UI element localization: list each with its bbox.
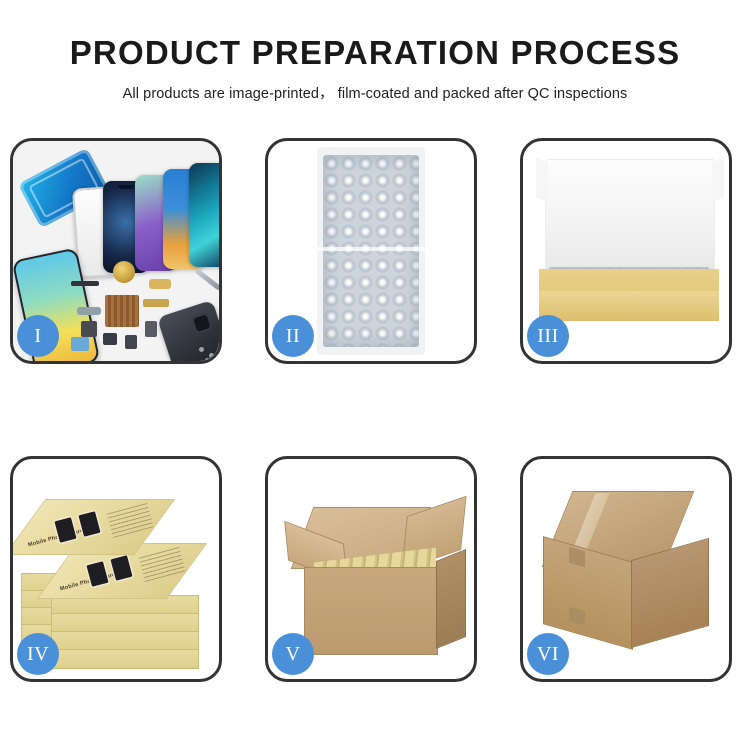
screwdriver-tool-icon <box>195 268 219 290</box>
wireless-charging-coil-icon <box>113 261 135 283</box>
step-badge-1: I <box>17 315 59 357</box>
bubble-texture <box>323 155 419 347</box>
inner-box-front-panel <box>539 291 719 321</box>
vibrator-motor-part <box>103 333 117 345</box>
page-subtitle: All products are image-printed， film-coa… <box>0 82 750 103</box>
inner-box-kraft-base <box>539 269 719 321</box>
camera-module-part <box>81 321 97 337</box>
carton-front-panel <box>304 567 438 655</box>
step-badge-5: V <box>272 633 314 675</box>
button-flex-part <box>145 321 157 337</box>
phone-screen-teal <box>189 163 219 267</box>
sealed-shipping-carton <box>543 491 719 651</box>
process-step-2: II <box>265 138 477 364</box>
page-title: PRODUCT PREPARATION PROCESS <box>0 36 750 69</box>
step-badge-6: VI <box>527 633 569 675</box>
earpiece-speaker-part <box>71 281 99 286</box>
process-step-1: I <box>10 138 222 364</box>
connector-part <box>77 307 101 315</box>
retail-box-layer <box>51 613 199 633</box>
flex-cable-part-a <box>149 279 171 289</box>
process-step-grid: I II III <box>10 138 740 682</box>
copper-shield-chip <box>105 295 139 327</box>
screws-group <box>199 347 219 361</box>
header: PRODUCT PREPARATION PROCESS All products… <box>0 0 750 103</box>
retail-box-layer <box>51 649 199 669</box>
battery-part <box>71 337 89 351</box>
spare-parts-cluster <box>71 259 219 361</box>
process-step-6: VI <box>520 456 732 682</box>
sim-tray-part <box>125 335 137 349</box>
step-badge-4: IV <box>17 633 59 675</box>
pouch-seam <box>317 247 425 251</box>
flex-cable-part-b <box>143 299 169 307</box>
process-step-4: Mobile Phone Spare Parts Mobile Phone Sp… <box>10 456 222 682</box>
process-step-5: V <box>265 456 477 682</box>
bubble-wrap-pouch <box>317 147 425 355</box>
open-shipping-carton <box>286 489 464 659</box>
retail-box-layer <box>51 631 199 651</box>
step-badge-2: II <box>272 315 314 357</box>
inner-box-white-lid <box>545 159 715 279</box>
step-badge-3: III <box>527 315 569 357</box>
process-step-3: III <box>520 138 732 364</box>
phone-screen-fan <box>73 163 219 273</box>
carton-side-panel <box>436 549 466 649</box>
